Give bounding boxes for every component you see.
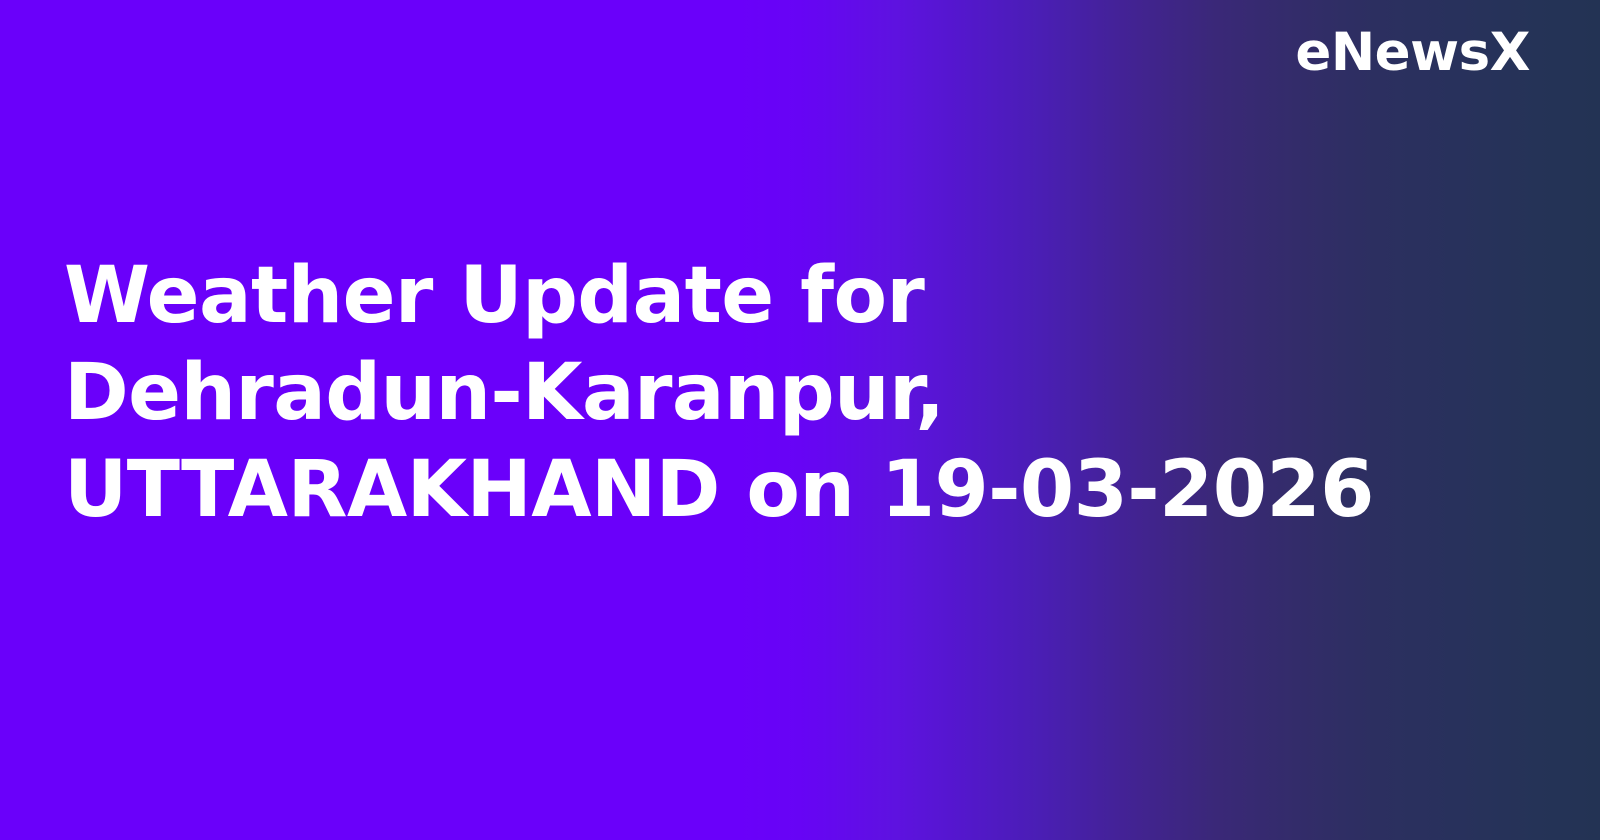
headline-block: Weather Update for Dehradun-Karanpur, UT… [64, 248, 1534, 539]
news-share-card: eNewsX Weather Update for Dehradun-Karan… [0, 0, 1600, 840]
brand-logo: eNewsX [1295, 26, 1530, 79]
brand-logo-text: eNewsX [1295, 26, 1530, 79]
page-title: Weather Update for Dehradun-Karanpur, UT… [64, 248, 1534, 539]
